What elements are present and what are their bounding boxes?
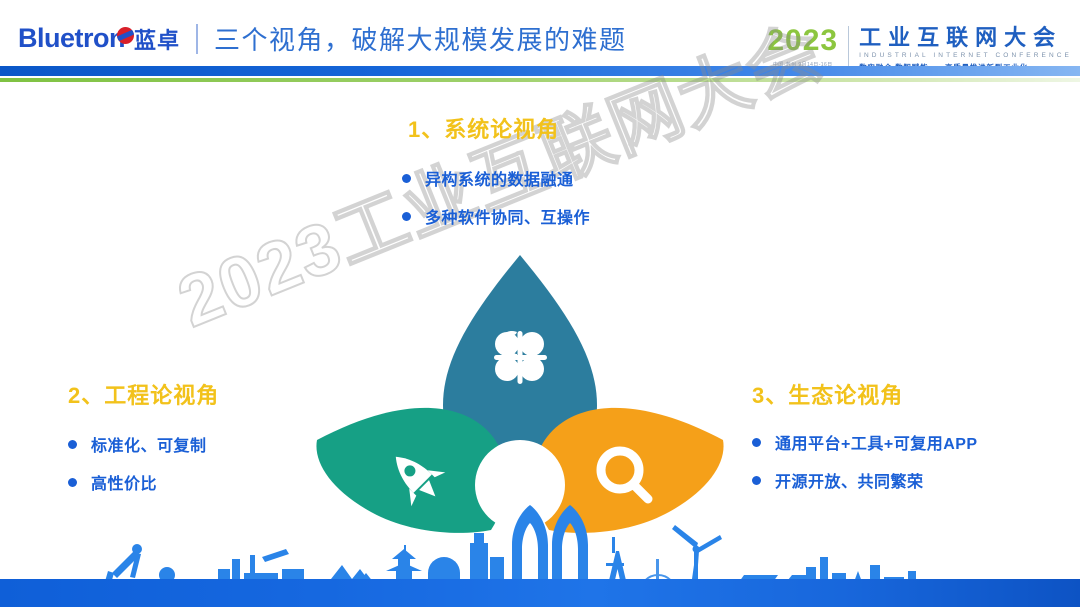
conference-name-en: INDUSTRIAL INTERNET CONFERENCE <box>859 52 1072 59</box>
logo-chinese-text: 蓝卓 <box>134 23 180 55</box>
logo-latin-text: Bluetron <box>18 23 125 54</box>
section-3-bullet-1: 通用平台+工具+可复用APP <box>775 430 978 454</box>
bottom-blue-band <box>0 579 1080 607</box>
bullet-dot-icon <box>68 440 77 449</box>
header-green-bar <box>0 78 1080 82</box>
conference-year-block: 2023 中国·苏州 9月14日-16日 <box>767 26 848 68</box>
list-item: 高性价比 <box>68 470 219 494</box>
title-divider <box>196 24 198 54</box>
list-item: 多种软件协同、互操作 <box>402 204 590 228</box>
section-2-bullet-2: 高性价比 <box>91 470 157 494</box>
bullet-dot-icon <box>68 478 77 487</box>
slide: Bluetron 蓝卓 三个视角，破解大规模发展的难题 2023 中国·苏州 9… <box>0 0 1080 607</box>
conference-name-cn: 工业互联网大会 <box>859 26 1072 49</box>
section-ecosystem-view: 3、生态论视角 通用平台+工具+可复用APP 开源开放、共同繁荣 <box>752 378 978 506</box>
section-1-heading: 1、系统论视角 <box>408 112 590 144</box>
section-systems-view: 1、系统论视角 异构系统的数据融通 多种软件协同、互操作 <box>402 112 590 242</box>
slide-header: Bluetron 蓝卓 三个视角，破解大规模发展的难题 2023 中国·苏州 9… <box>0 0 1080 92</box>
bullet-dot-icon <box>752 476 761 485</box>
section-1-bullets: 异构系统的数据融通 多种软件协同、互操作 <box>402 166 590 228</box>
list-item: 通用平台+工具+可复用APP <box>752 430 978 454</box>
section-2-heading: 2、工程论视角 <box>68 378 219 410</box>
section-engineering-view: 2、工程论视角 标准化、可复制 高性价比 <box>68 378 219 508</box>
header-blue-bar <box>0 66 1080 76</box>
section-2-bullets: 标准化、可复制 高性价比 <box>68 432 219 494</box>
section-3-heading: 3、生态论视角 <box>752 378 978 410</box>
conference-year: 2023 <box>767 26 838 56</box>
section-3-bullet-2: 开源开放、共同繁荣 <box>775 468 924 492</box>
bullet-dot-icon <box>402 174 411 183</box>
list-item: 开源开放、共同繁荣 <box>752 468 978 492</box>
section-1-bullet-2: 多种软件协同、互操作 <box>425 204 590 228</box>
bullet-dot-icon <box>402 212 411 221</box>
three-petal-diagram <box>305 240 735 540</box>
flower-icon <box>494 331 547 384</box>
list-item: 异构系统的数据融通 <box>402 166 590 190</box>
bullet-dot-icon <box>752 438 761 447</box>
page-title: 三个视角，破解大规模发展的难题 <box>214 20 627 57</box>
section-1-bullet-1: 异构系统的数据融通 <box>425 166 574 190</box>
bluetron-logo: Bluetron 蓝卓 三个视角，破解大规模发展的难题 <box>18 20 627 57</box>
planet-icon <box>117 27 134 44</box>
section-2-bullet-1: 标准化、可复制 <box>91 432 207 456</box>
list-item: 标准化、可复制 <box>68 432 219 456</box>
section-3-bullets: 通用平台+工具+可复用APP 开源开放、共同繁荣 <box>752 430 978 492</box>
